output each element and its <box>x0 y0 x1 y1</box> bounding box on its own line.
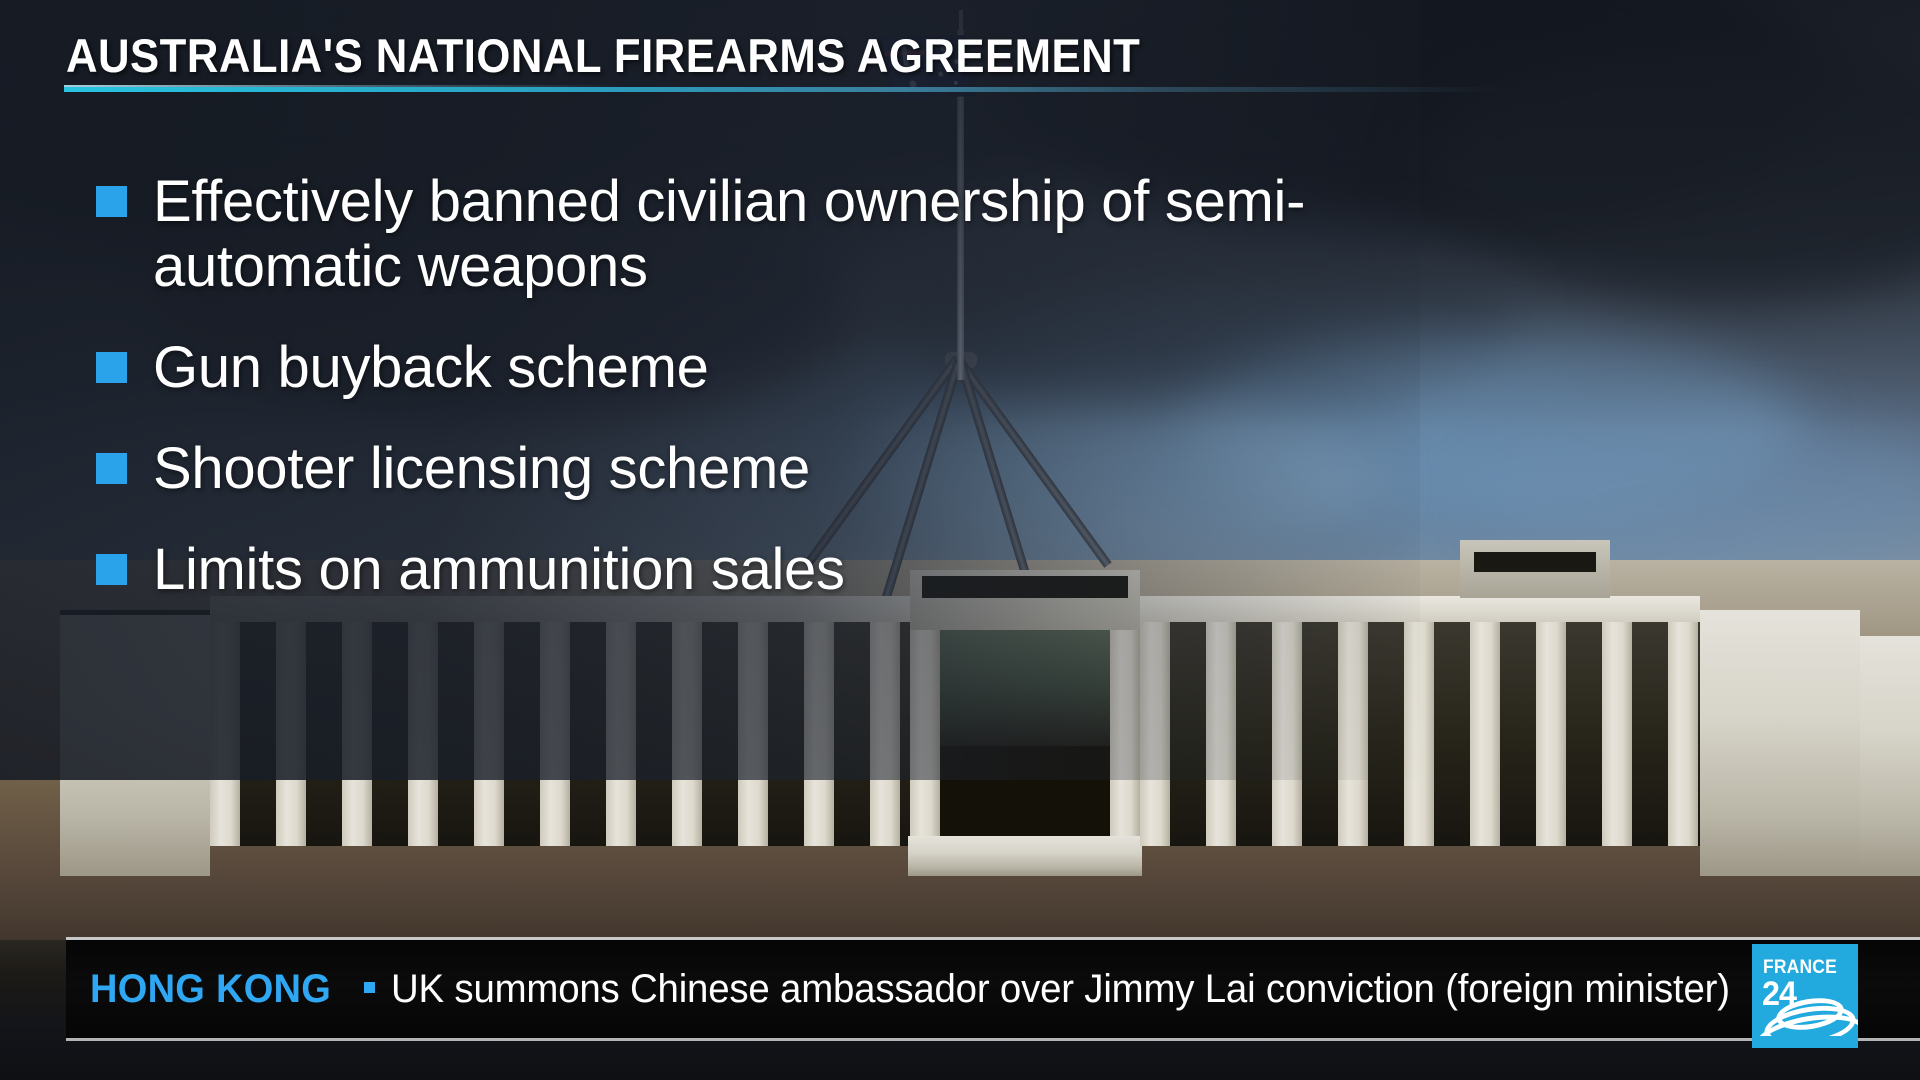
building-far-right <box>1860 636 1920 876</box>
news-ticker-content: HONG KONG UK summons Chinese ambassador … <box>66 967 1785 1012</box>
bullet-list: Effectively banned civilian ownership of… <box>96 170 1356 639</box>
column <box>1602 596 1632 846</box>
bullet-square-icon <box>96 186 127 217</box>
list-item-label: Gun buyback scheme <box>153 336 709 401</box>
list-item: Effectively banned civilian ownership of… <box>96 170 1356 300</box>
entrance-plinth <box>908 836 1142 876</box>
right-roof-slot <box>1474 552 1596 572</box>
bullet-square-icon <box>96 352 127 383</box>
list-item: Limits on ammunition sales <box>96 538 1356 603</box>
title-underline-rule <box>64 87 1504 92</box>
bullet-square-icon <box>96 453 127 484</box>
bullet-square-icon <box>96 554 127 585</box>
logo-swoosh-mask <box>1752 1036 1858 1048</box>
list-item-label: Shooter licensing scheme <box>153 437 810 502</box>
column <box>1470 596 1500 846</box>
broadcast-screen: AUSTRALIA'S NATIONAL FIREARMS AGREEMENT … <box>0 0 1920 1080</box>
page-title: AUSTRALIA'S NATIONAL FIREARMS AGREEMENT <box>66 28 1140 83</box>
list-item: Shooter licensing scheme <box>96 437 1356 502</box>
list-item: Gun buyback scheme <box>96 336 1356 401</box>
column <box>1668 596 1698 846</box>
ticker-headline: UK summons Chinese ambassador over Jimmy… <box>391 967 1730 1012</box>
news-ticker-bar: HONG KONG UK summons Chinese ambassador … <box>66 937 1920 1041</box>
ticker-location-kicker: HONG KONG <box>90 967 331 1012</box>
building-wing-right <box>1700 610 1860 876</box>
france24-logo: FRANCE 24 <box>1752 944 1858 1048</box>
column <box>1536 596 1566 846</box>
ticker-separator-square-icon <box>364 982 375 993</box>
list-item-label: Effectively banned civilian ownership of… <box>153 170 1356 300</box>
list-item-label: Limits on ammunition sales <box>153 538 845 603</box>
